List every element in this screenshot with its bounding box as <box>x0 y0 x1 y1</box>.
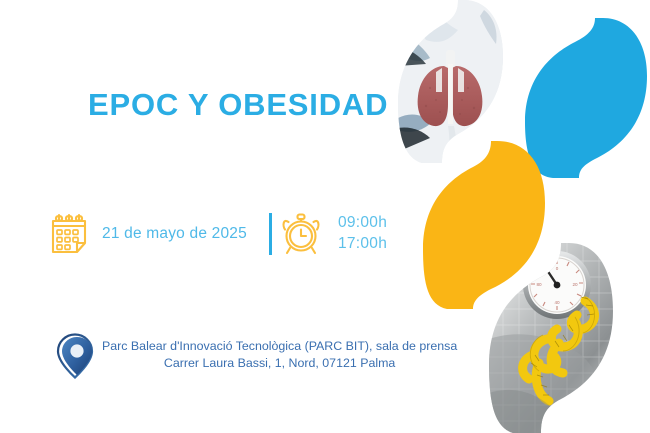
poster-canvas: 020 4080 <box>0 0 650 433</box>
datetime-row: 21 de mayo de 2025 <box>48 206 387 262</box>
location-row: Parc Balear d'Innovació Tecnològica (PAR… <box>56 333 457 381</box>
svg-text:20: 20 <box>572 282 578 287</box>
weight-scale-measuring-tape-photo: 020 4080 <box>489 243 613 433</box>
location-line-1: Parc Balear d'Innovació Tecnològica (PAR… <box>102 338 457 355</box>
alarm-clock-icon <box>278 209 324 259</box>
map-pin-icon <box>56 333 96 381</box>
location-address: Parc Balear d'Innovació Tecnològica (PAR… <box>102 338 457 372</box>
calendar-icon <box>48 210 90 258</box>
event-time-block: 09:00h 17:00h <box>338 213 387 254</box>
event-time-start: 09:00h <box>338 213 387 234</box>
vertical-divider <box>269 213 272 255</box>
event-time-end: 17:00h <box>338 234 387 255</box>
page-title: EPOC Y OBESIDAD <box>88 87 388 123</box>
event-date: 21 de mayo de 2025 <box>102 225 247 243</box>
location-line-2: Carrer Laura Bassi, 1, Nord, 07121 Palma <box>102 355 457 372</box>
svg-text:40: 40 <box>554 300 560 305</box>
svg-text:0: 0 <box>556 266 559 271</box>
lungs-anatomical-model-photo <box>398 0 503 163</box>
svg-text:80: 80 <box>536 282 542 287</box>
